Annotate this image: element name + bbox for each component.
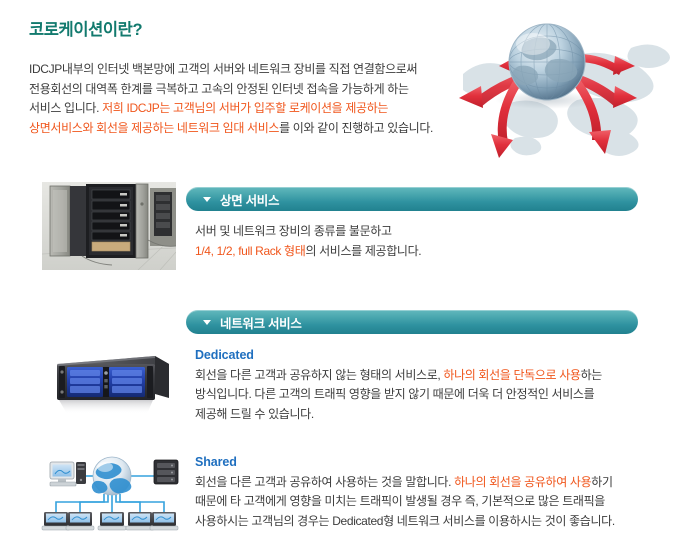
dedicated-heading: Dedicated (195, 348, 254, 362)
dedicated-line-2: 방식입니다. 다른 고객의 트래픽 영향을 받지 않기 때문에 더욱 더 안정적… (195, 385, 643, 405)
shared-line-1-tail: 하기 (591, 475, 612, 489)
shared-block: Shared 회선을 다른 고객과 공유하여 사용하는 것을 말합니다. 하나의… (195, 453, 650, 531)
intro-line-1: IDCJP내부의 인터넷 백본망에 고객의 서버와 네트워크 장비를 직접 연결… (29, 60, 473, 80)
triangle-down-icon (203, 320, 211, 325)
colocation-info-page: 코로케이션이란? (0, 0, 680, 560)
intro-line-4-plain: 를 이와 같이 진행하고 있습니다. (279, 121, 433, 135)
triangle-down-icon (203, 197, 211, 202)
laptop-row (42, 512, 178, 530)
dedicated-block: Dedicated 회선을 다른 고객과 공유하지 않는 형태의 서비스로, 하… (195, 346, 643, 424)
colocation-line-2-plain: 의 서비스를 제공합니다. (305, 244, 421, 258)
desktop-pc (50, 462, 86, 486)
dedicated-line-1-tail: 하는 (581, 368, 602, 382)
network-topology-diagram-photo (36, 450, 180, 538)
shared-line-2: 때문에 타 고객에게 영향을 미치는 트래픽이 발생될 경우 즉, 기본적으로 … (195, 492, 650, 512)
intro-paragraph: IDCJP내부의 인터넷 백본망에 고객의 서버와 네트워크 장비를 직접 연결… (29, 60, 473, 138)
section-header-colocation-label: 상면 서비스 (220, 190, 279, 209)
section-header-network-label: 네트워크 서비스 (220, 313, 302, 332)
intro-line-2: 전용회선의 대역폭 한계를 극복하고 고속의 안정된 인터넷 접속을 가능하게 … (29, 80, 473, 100)
shared-heading: Shared (195, 455, 237, 469)
dedicated-line-1-highlight: 하나의 회선을 단독으로 사용 (443, 368, 580, 382)
dedicated-line-3: 제공해 드릴 수 있습니다. (195, 405, 643, 425)
shared-line-3: 사용하시는 고객님의 경우는 Dedicated형 네트워크 서비스를 이용하시… (195, 512, 650, 532)
colocation-body-text: 서버 및 네트워크 장비의 종류를 불문하고 1/4, 1/2, full Ra… (195, 222, 635, 261)
colocation-line-2: 1/4, 1/2, full Rack 형태의 서비스를 제공합니다. (195, 242, 635, 262)
intro-line-4: 상면서비스와 회선을 제공하는 네트워크 임대 서비스를 이와 같이 진행하고 … (29, 119, 473, 139)
colocation-line-1: 서버 및 네트워크 장비의 종류를 불문하고 (195, 222, 635, 242)
server-rack-cabinet-photo (42, 182, 176, 270)
section-header-colocation[interactable]: 상면 서비스 (186, 187, 638, 211)
section-header-network[interactable]: 네트워크 서비스 (186, 310, 638, 334)
colocation-line-2-highlight: 1/4, 1/2, full Rack 형태 (195, 244, 305, 258)
dedicated-line-1-plain: 회선을 다른 고객과 공유하지 않는 형태의 서비스로, (195, 368, 443, 382)
shared-line-1-highlight: 하나의 회선을 공유하여 사용 (454, 475, 591, 489)
intro-line-3-plain: 서비스 입니다. (29, 101, 102, 115)
rackmount-server-photo (43, 348, 175, 426)
shared-line-1: 회선을 다른 고객과 공유하여 사용하는 것을 말합니다. 하나의 회선을 공유… (195, 473, 650, 493)
intro-line-3: 서비스 입니다. 저희 IDCJP는 고객님의 서버가 입주할 로케이션을 제공… (29, 99, 473, 119)
shared-line-1-plain: 회선을 다른 고객과 공유하여 사용하는 것을 말합니다. (195, 475, 454, 489)
server-stack (154, 460, 178, 484)
intro-line-4-highlight: 상면서비스와 회선을 제공하는 네트워크 임대 서비스 (29, 121, 279, 135)
page-title: 코로케이션이란? (29, 16, 142, 40)
globe-world-map-arrows-graphic (455, 8, 680, 176)
dedicated-line-1: 회선을 다른 고객과 공유하지 않는 형태의 서비스로, 하나의 회선을 단독으… (195, 366, 643, 386)
intro-line-3-highlight: 저희 IDCJP는 고객님의 서버가 입주할 로케이션을 제공하는 (102, 101, 388, 115)
